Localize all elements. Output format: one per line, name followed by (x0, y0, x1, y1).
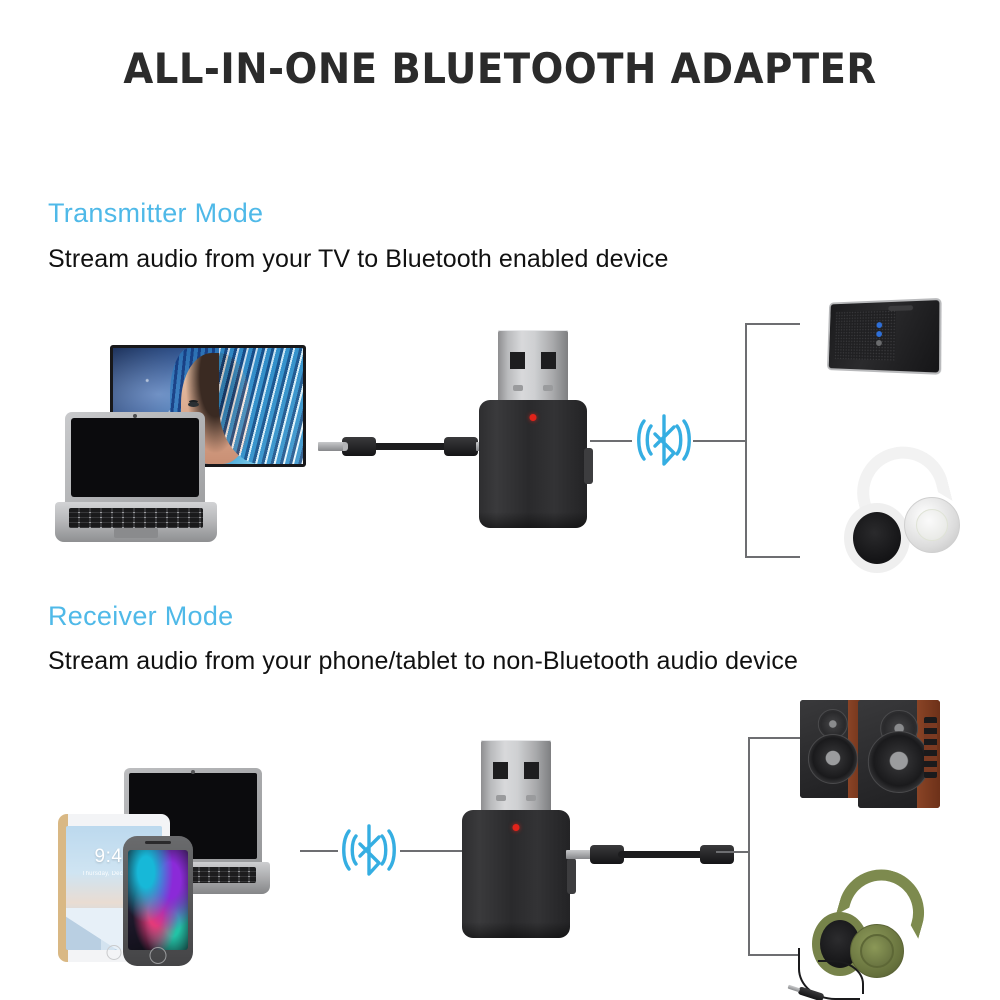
laptop-trackpad (114, 528, 158, 538)
page-title: ALL-IN-ONE BLUETOOTH ADAPTER (40, 44, 960, 93)
usb-contact-left (496, 795, 506, 801)
usb-contact-right (543, 385, 553, 391)
aux-plug-tip-left (566, 850, 592, 859)
transmitter-bracket-arm-bottom (745, 556, 800, 558)
receiver-bracket-arm-top (748, 737, 800, 739)
laptop-base (55, 502, 217, 542)
headphone-earcup-left (844, 503, 910, 573)
speaker-grille (834, 310, 896, 361)
green-headphones-illustration (798, 868, 958, 1000)
laptop-keyboard (69, 508, 203, 528)
laptop-lid (65, 412, 205, 504)
infographic-page: ALL-IN-ONE BLUETOOTH ADAPTER Transmitter… (0, 0, 1000, 1000)
tablet-home-button[interactable] (107, 945, 122, 960)
speaker-top-buttons (888, 305, 913, 311)
white-headphones-illustration (838, 447, 962, 565)
phone-home-button[interactable] (150, 947, 167, 964)
bluetooth-signal-icon (633, 411, 695, 474)
transmitter-bracket-spine (745, 323, 747, 557)
speaker-enclosure (827, 298, 942, 375)
bluetooth-speaker-illustration (822, 300, 940, 372)
headphone-earcup-right (904, 497, 960, 553)
bluetooth-signal-icon-receiver (338, 821, 400, 884)
phone-earpiece (145, 841, 171, 844)
speaker-woofer (808, 734, 858, 784)
receiver-aux-cable (566, 845, 736, 865)
status-led-indicator (513, 824, 520, 831)
usb-a-connector (481, 740, 551, 818)
bookshelf-speakers-illustration (800, 700, 940, 808)
smartphone-illustration (123, 836, 193, 966)
transmitter-usb-adapter (479, 330, 587, 530)
transmitter-mode-heading: Transmitter Mode (48, 198, 263, 229)
connector-line-devices-to-bt (300, 850, 338, 852)
receiver-bracket-stem (716, 851, 750, 853)
transmitter-aux-cable (318, 437, 486, 457)
receiver-usb-adapter (462, 740, 570, 940)
screen-art-hair-front (219, 348, 303, 464)
speaker-port-vents (924, 717, 937, 777)
usb-contact-right (526, 795, 536, 801)
transmitter-bracket-arm-top (745, 323, 800, 325)
screen-art-eye-left (188, 402, 199, 407)
aux-connector-right (700, 845, 734, 864)
aux-plug-tip-left (318, 442, 344, 451)
connector-line-bt-to-adapter (400, 850, 462, 852)
phone-screen (128, 850, 188, 950)
adapter-mode-button[interactable] (584, 448, 593, 484)
webcam-icon (133, 414, 137, 418)
receiver-bracket-arm-bottom (748, 954, 800, 956)
status-led-indicator (530, 414, 537, 421)
transmitter-mode-description: Stream audio from your TV to Bluetooth e… (48, 243, 908, 275)
receiver-mode-description: Stream audio from your phone/tablet to n… (48, 645, 848, 677)
connector-line-bt-to-bracket (693, 440, 745, 442)
receiver-bracket-spine (748, 737, 750, 955)
receiver-mode-heading: Receiver Mode (48, 601, 233, 632)
connector-line-adapter-to-bt (590, 440, 632, 442)
speaker-left (800, 700, 866, 798)
laptop-display (71, 418, 199, 497)
usb-contact-left (513, 385, 523, 391)
webcam-icon (191, 770, 195, 774)
usb-a-connector (498, 330, 568, 408)
speaker-right (858, 700, 940, 808)
aux-connector-right (444, 437, 478, 456)
